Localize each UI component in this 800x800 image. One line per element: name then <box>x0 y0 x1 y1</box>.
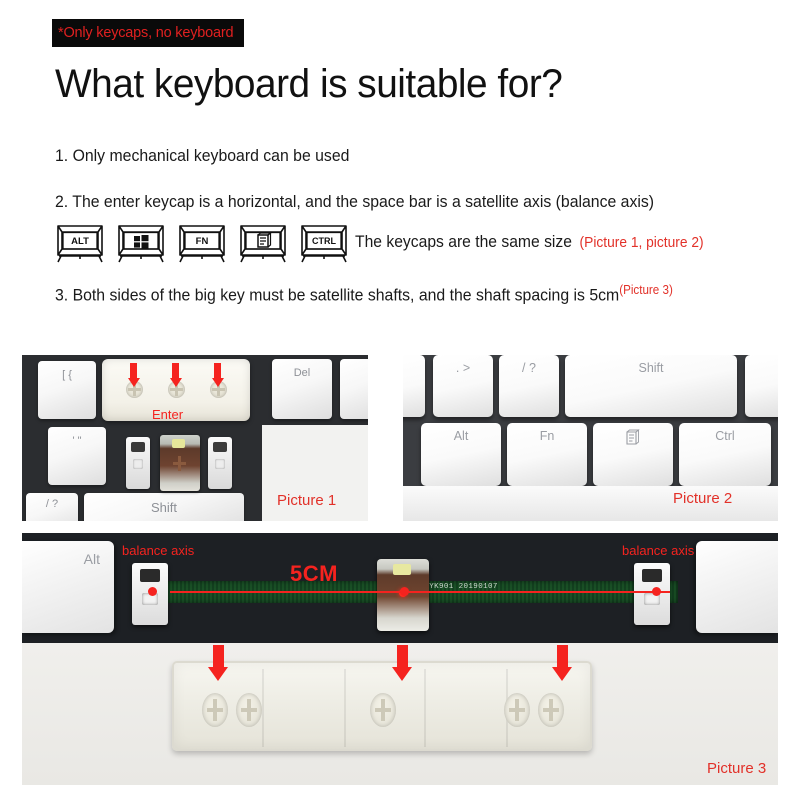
alt-keycap-icon: ALT <box>54 223 106 263</box>
pic3-measure-dot-left <box>148 587 157 596</box>
pic1-slash-key: / ? <box>26 493 78 521</box>
pic2-alt-key: Alt <box>421 423 501 486</box>
picture-3-label: Picture 3 <box>707 760 766 777</box>
pic1-mechanical-switch <box>160 435 200 491</box>
pic3-spacebar-underside <box>172 661 592 751</box>
pic1-shift-key-label: Shift <box>151 500 177 515</box>
pic2-menu-key <box>593 423 673 486</box>
menu-keycap-icon <box>237 223 289 263</box>
pic2-shift-key-label: Shift <box>638 361 663 375</box>
pic1-stabilizer-right <box>208 437 232 489</box>
pic1-bracket-key-label: [ { <box>62 369 72 381</box>
pic2-fn-key: Fn <box>507 423 587 486</box>
keycap-size-note-ref: (Picture 1, picture 2) <box>580 235 704 251</box>
windows-keycap-icon <box>115 223 167 263</box>
pic2-ctrl-key-label: Ctrl <box>715 429 734 443</box>
pic1-bracket-key: [ { <box>38 361 96 419</box>
pic3-measure-dot-center <box>400 587 409 596</box>
pic3-balance-axis-label-right: balance axis <box>622 543 694 558</box>
pic2-slash-key-label: / ? <box>522 361 536 375</box>
pic2-shift-key: Shift <box>565 355 737 417</box>
requirement-3-ref: (Picture 3) <box>619 283 673 297</box>
pic2-partial-key <box>403 355 425 417</box>
pic3-spacebar-region <box>22 643 778 785</box>
pic1-enter-stem-right <box>210 381 227 398</box>
pic2-alt-key-label: Alt <box>454 429 469 443</box>
pic2-slash-key: / ? <box>499 355 559 417</box>
pic1-enter-label: Enter <box>152 407 183 422</box>
pic3-measure-label: 5CM <box>290 561 338 587</box>
picture-2-label: Picture 2 <box>673 490 732 507</box>
picture-1-label: Picture 1 <box>277 492 336 509</box>
warning-banner: *Only keycaps, no keyboard <box>52 19 244 47</box>
fn-keycap-icon: FN <box>176 223 228 263</box>
pic3-measure-dot-right <box>652 587 661 596</box>
pic3-alt-key: Alt <box>22 541 114 633</box>
fn-keycap-label: FN <box>196 236 209 247</box>
pic1-switch-stem <box>173 456 186 471</box>
pic3-arrow-1 <box>208 645 228 681</box>
pic3-spacebar-stem-2 <box>236 693 262 727</box>
pic3-spacebar-stem-3 <box>370 693 396 727</box>
pic1-enter-stem-left <box>126 381 143 398</box>
pic1-enter-stem-center <box>168 381 185 398</box>
warning-banner-text: *Only keycaps, no keyboard <box>58 25 233 41</box>
pic2-fn-key-label: Fn <box>540 429 555 443</box>
pic1-del-key: Del <box>272 359 332 419</box>
pic1-slash-key-label: / ? <box>46 498 58 510</box>
pic1-extra-key <box>340 359 368 419</box>
pic3-balance-axis-label-left: balance axis <box>122 543 194 558</box>
alt-keycap-label: ALT <box>71 236 89 247</box>
pic3-right-key <box>696 541 778 633</box>
pic3-spacebar-stem-4 <box>504 693 530 727</box>
pic1-quote-key: ' " <box>48 427 106 485</box>
pic3-switch-led <box>393 564 411 575</box>
requirement-2: 2. The enter keycap is a horizontal, and… <box>55 192 654 212</box>
pic1-stabilizer-left <box>126 437 150 489</box>
pic3-measure-line <box>170 591 670 593</box>
pic2-edge-key <box>745 355 778 417</box>
keycap-size-note-text: The keycaps are the same size <box>355 233 572 251</box>
menu-list-glyph <box>258 233 271 247</box>
picture-3-photo: Alt 8005-B BYK901 20190107 5CM balance a… <box>22 533 778 785</box>
ctrl-keycap-label: CTRL <box>312 236 336 246</box>
pic3-spacebar-stem-1 <box>202 693 228 727</box>
pic3-spacebar-stem-5 <box>538 693 564 727</box>
requirement-1: 1. Only mechanical keyboard can be used <box>55 146 349 166</box>
windows-logo-glyph <box>134 235 149 249</box>
ctrl-keycap-icon: CTRL <box>298 223 350 263</box>
pic2-period-key-label: . > <box>456 361 470 375</box>
pic2-period-key: . > <box>433 355 493 417</box>
pic1-shift-key: Shift <box>84 493 244 521</box>
keycap-icon-row: ALT FN <box>54 223 350 263</box>
requirement-3-text: 3. Both sides of the big key must be sat… <box>55 286 619 305</box>
keycap-size-note: The keycaps are the same size(Picture 1,… <box>355 233 704 252</box>
pic1-switch-assembly <box>126 435 232 493</box>
pic3-alt-key-label: Alt <box>84 551 100 567</box>
pic3-plate-region: Alt 8005-B BYK901 20190107 5CM balance a… <box>22 533 778 643</box>
pic1-switch-led <box>172 439 185 448</box>
pic1-quote-key-label: ' " <box>72 435 81 447</box>
page-title: What keyboard is suitable for? <box>55 62 562 107</box>
pic3-arrow-2 <box>392 645 412 681</box>
requirement-3: 3. Both sides of the big key must be sat… <box>55 283 673 306</box>
pic2-ctrl-key: Ctrl <box>679 423 771 486</box>
pic3-arrow-3 <box>552 645 572 681</box>
pic1-del-key-label: Del <box>294 367 311 379</box>
pic2-menu-glyph-icon <box>626 429 641 446</box>
